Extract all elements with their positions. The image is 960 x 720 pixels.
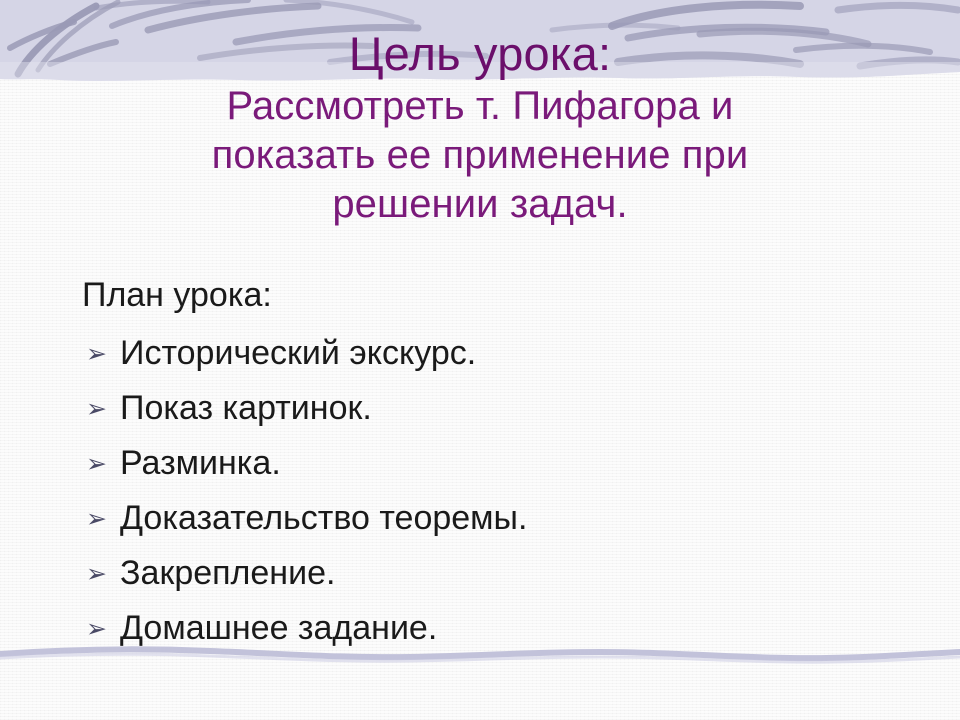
list-item-label: Закрепление. (120, 554, 335, 592)
list-item: ➢ Домашнее задание. (82, 601, 872, 656)
list-item-label: Домашнее задание. (120, 609, 437, 647)
slide-title: Цель урока: (0, 26, 960, 82)
arrow-bullet-icon: ➢ (86, 326, 112, 381)
title-block: Цель урока: Рассмотреть т. Пифагора и по… (0, 26, 960, 229)
slide-subtitle-line-2: показать ее применение при (0, 131, 960, 180)
list-item: ➢ Разминка. (82, 436, 872, 491)
list-item-label: Показ картинок. (120, 389, 372, 427)
list-item-label: Исторический экскурс. (120, 334, 476, 372)
arrow-bullet-icon: ➢ (86, 436, 112, 491)
list-item: ➢ Доказательство теоремы. (82, 491, 872, 546)
slide-subtitle-line-3: решении задач. (0, 180, 960, 229)
arrow-bullet-icon: ➢ (86, 491, 112, 546)
list-item: ➢ Исторический экскурс. (82, 326, 872, 381)
arrow-bullet-icon: ➢ (86, 601, 112, 656)
arrow-bullet-icon: ➢ (86, 381, 112, 436)
presentation-slide: Цель урока: Рассмотреть т. Пифагора и по… (0, 0, 960, 720)
list-item-label: Доказательство теоремы. (120, 499, 527, 537)
arrow-bullet-icon: ➢ (86, 546, 112, 601)
lesson-plan-block: План урока: ➢ Исторический экскурс. ➢ По… (82, 272, 872, 656)
list-item: ➢ Показ картинок. (82, 381, 872, 436)
list-item-label: Разминка. (120, 444, 281, 482)
slide-subtitle-line-1: Рассмотреть т. Пифагора и (0, 82, 960, 131)
lesson-plan-heading: План урока: (82, 272, 872, 318)
lesson-plan-list: ➢ Исторический экскурс. ➢ Показ картинок… (82, 326, 872, 656)
list-item: ➢ Закрепление. (82, 546, 872, 601)
